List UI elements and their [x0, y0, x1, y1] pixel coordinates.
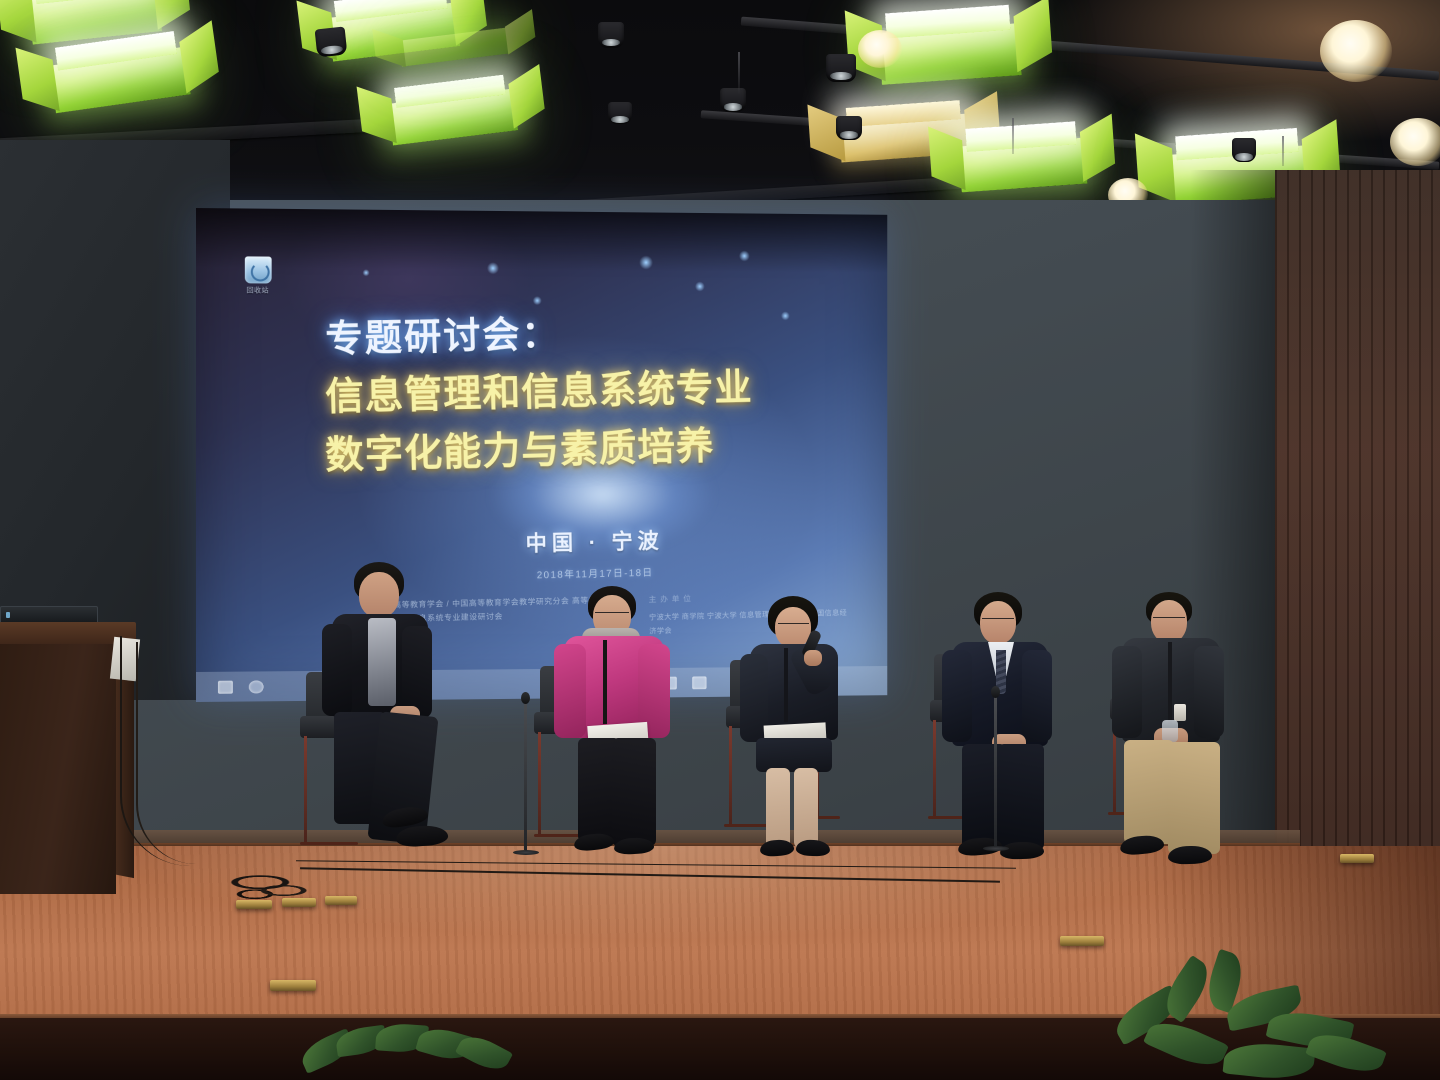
- mic-stand-1: [524, 700, 554, 868]
- panelist-5-leg-left: [1124, 740, 1174, 844]
- panelist-4-glasses: [982, 618, 1014, 623]
- panelist-3-lanyard: [784, 648, 788, 722]
- panelist-5-arm-left: [1112, 646, 1142, 738]
- ceiling-downlight-1: [1320, 20, 1392, 82]
- floor-box-5: [1060, 936, 1104, 946]
- panelist-4-arm-right: [1022, 650, 1052, 742]
- floor-box-3: [325, 896, 357, 905]
- bokeh-dot-8: [363, 269, 370, 276]
- slide-title-block: 专题研讨会： 信息管理和信息系统专业 数字化能力与素质培养: [325, 301, 847, 474]
- wall-right-wood-panel: [1275, 170, 1440, 870]
- panelist-5-lanyard: [1168, 642, 1172, 724]
- bokeh-dot-3: [639, 256, 652, 270]
- panelist-3-glasses: [778, 623, 809, 628]
- floor-box-6: [1340, 854, 1374, 863]
- lectern: [0, 610, 136, 890]
- recycle-bin-icon[interactable]: 回收站: [240, 256, 276, 295]
- screen-top-shadow: [196, 208, 887, 273]
- rig-cable-drop-3: [1282, 136, 1284, 166]
- panelist-2-arm-left: [554, 644, 586, 738]
- panelist-5: [1114, 592, 1260, 842]
- slide-title-line2: 信息管理和信息系统专业: [325, 355, 849, 422]
- ceiling-downlight-3: [858, 30, 902, 68]
- panelist-2-glasses: [595, 612, 629, 617]
- panelist-2-leg-right: [612, 738, 656, 846]
- plant-left: [300, 1022, 520, 1080]
- bokeh-dot-5: [739, 251, 750, 262]
- panelist-3-hand: [804, 650, 822, 666]
- podium-cable-2: [136, 642, 230, 864]
- can-light-6: [836, 116, 862, 140]
- rig-cable-drop-2: [1012, 118, 1014, 154]
- recycle-bin-glyph: [244, 256, 271, 283]
- floor-box-4: [270, 980, 316, 991]
- panelist-3-skirt: [756, 738, 832, 772]
- stage-light-8: [959, 138, 1088, 193]
- panelist-1: [318, 562, 488, 852]
- panelist-5-glasses: [1153, 617, 1185, 622]
- slide-location: 中国 · 宁波: [488, 523, 701, 559]
- panelist-3: [742, 596, 882, 846]
- panelist-4-arm-left: [942, 650, 972, 742]
- auditorium-stage-photo: 回收站 专题研讨会： 信息管理和信息系统专业 数字化能力与素质培养 中国 · 宁…: [0, 0, 1440, 1080]
- can-light-5: [608, 102, 632, 124]
- floor-box-1: [236, 900, 272, 909]
- slide-subtitle-block: 中国 · 宁波 2018年11月17日-18日: [488, 523, 702, 583]
- panelist-3-leg-left: [766, 768, 790, 850]
- mic-stand-2: [994, 694, 1024, 862]
- recycle-bin-label: 回收站: [240, 285, 276, 295]
- panelist-5-shoe-right: [1168, 845, 1213, 865]
- bokeh-dot-1: [487, 262, 499, 274]
- panelist-1-arm-left: [322, 624, 352, 716]
- panelist-5-arm-right: [1194, 646, 1224, 738]
- can-light-4: [826, 54, 856, 82]
- rig-cable-drop-1: [738, 52, 740, 94]
- panelist-5-leg-right: [1168, 742, 1220, 854]
- floor-box-2: [282, 898, 316, 907]
- slide-title-line1: 专题研讨会：: [324, 297, 848, 363]
- plant-right: [1112, 952, 1412, 1080]
- can-light-7: [1232, 138, 1256, 162]
- panelist-3-shoe-right: [796, 839, 831, 856]
- can-light-1: [315, 27, 348, 58]
- panelist-2-lanyard: [603, 640, 607, 724]
- panelist-2: [556, 586, 704, 846]
- slide-title-line3: 数字化能力与素质培养: [325, 413, 849, 481]
- panelist-1-arm-right: [402, 626, 432, 718]
- panelist-1-shirt: [368, 618, 396, 706]
- panelist-5-id-badge: [1174, 704, 1186, 721]
- bokeh-dot-4: [695, 282, 705, 292]
- panelist-1-head: [359, 572, 399, 618]
- water-bottle-icon: [1162, 720, 1178, 742]
- slide-date: 2018年11月17日-18日: [488, 563, 701, 583]
- can-light-2: [598, 22, 624, 48]
- ceiling-downlight-2: [1390, 118, 1440, 166]
- cortana-circle-icon[interactable]: [249, 680, 264, 693]
- panelist-3-leg-right: [794, 768, 818, 848]
- can-light-3: [720, 88, 746, 112]
- lectern-body: [0, 644, 116, 894]
